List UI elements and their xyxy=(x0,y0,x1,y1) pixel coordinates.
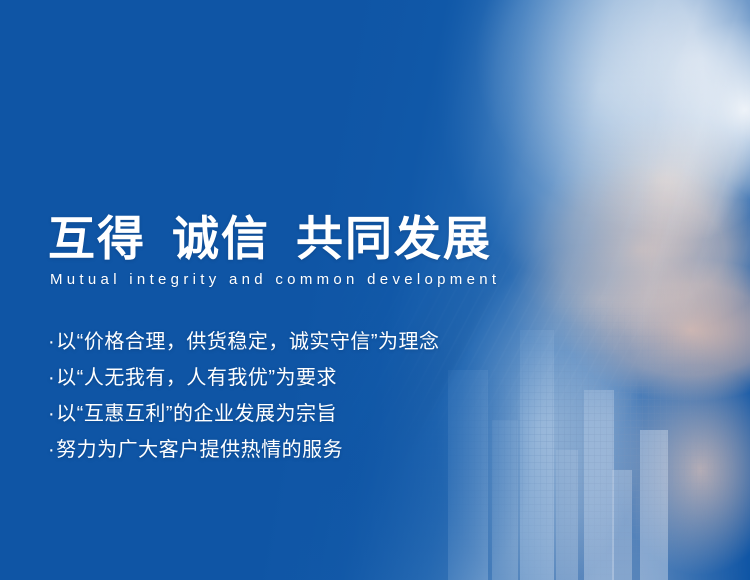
value-proposition-list: ·以“价格合理，供货稳定，诚实守信”为理念 ·以“人无我有，人有我优”为要求 ·… xyxy=(48,332,440,476)
bullet-marker-icon: · xyxy=(48,332,55,352)
page-title: 互得诚信共同发展 xyxy=(48,215,492,262)
bullet-marker-icon: · xyxy=(48,368,55,388)
headline-part-2: 诚信 xyxy=(172,212,270,265)
list-item: ·以“互惠互利”的企业发展为宗旨 xyxy=(48,404,440,424)
list-item-label: 努力为广大客户提供热情的服务 xyxy=(56,439,343,461)
list-item: ·努力为广大客户提供热情的服务 xyxy=(48,440,440,460)
banner-content: 互得诚信共同发展 Mutual integrity and common dev… xyxy=(48,0,708,580)
list-item: ·以“价格合理，供货稳定，诚实守信”为理念 xyxy=(48,332,440,352)
page-subtitle: Mutual integrity and common development xyxy=(50,272,500,287)
headline-part-3: 共同发展 xyxy=(296,212,492,265)
bullet-marker-icon: · xyxy=(48,404,55,424)
promotional-banner: 互得诚信共同发展 Mutual integrity and common dev… xyxy=(0,0,750,580)
list-item-label: 以“人无我有，人有我优”为要求 xyxy=(56,367,337,389)
bullet-marker-icon: · xyxy=(48,440,55,460)
list-item: ·以“人无我有，人有我优”为要求 xyxy=(48,368,440,388)
list-item-label: 以“互惠互利”的企业发展为宗旨 xyxy=(56,403,337,425)
list-item-label: 以“价格合理，供货稳定，诚实守信”为理念 xyxy=(56,331,439,353)
headline-part-1: 互得 xyxy=(48,212,146,265)
